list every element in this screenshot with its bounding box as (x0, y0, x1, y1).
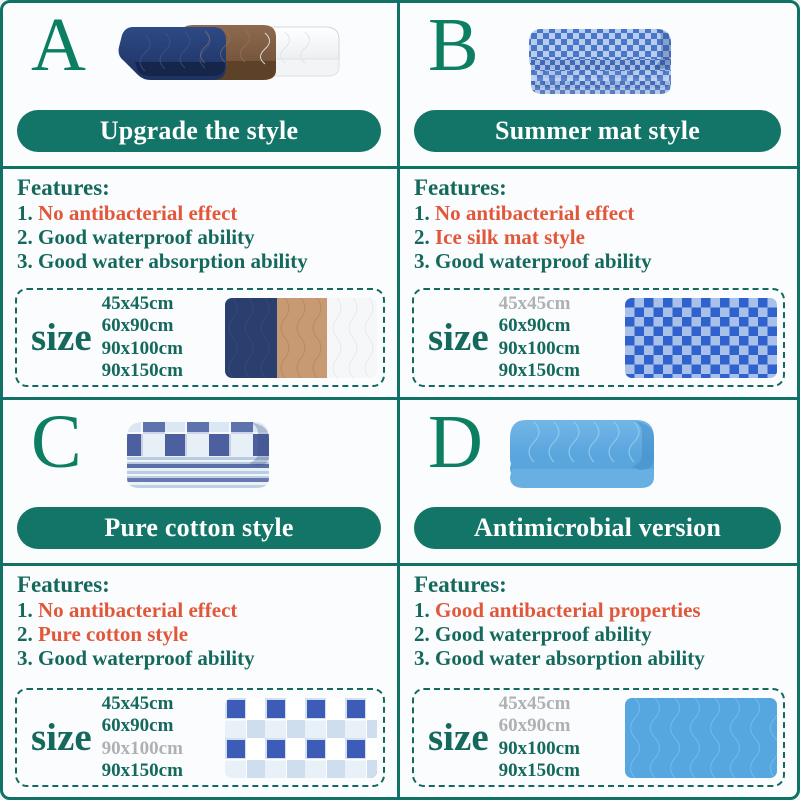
panel-d-features-label: Features: (414, 573, 785, 598)
panel-c-size-list: 45x45cm 60x90cm 90x100cm 90x150cm (96, 693, 191, 782)
feature-text: Good waterproof ability (38, 646, 255, 670)
feature-number: 2. (414, 622, 430, 646)
panel-b-title: Summer mat style (495, 116, 700, 146)
panel-a-header: A (3, 3, 397, 169)
variant-grid: A (3, 3, 797, 797)
size-option[interactable]: 60x90cm (102, 315, 183, 337)
feature-number: 3. (414, 646, 430, 670)
panel-c-feature-1: 1. No antibacterial effect (17, 598, 385, 622)
size-option[interactable]: 90x100cm (499, 738, 580, 760)
panel-c-body: Features: 1. No antibacterial effect 2. … (3, 566, 397, 797)
size-option[interactable]: 90x150cm (102, 360, 183, 382)
size-option[interactable]: 90x150cm (499, 760, 580, 782)
size-option-unavailable: 45x45cm (499, 293, 580, 315)
panel-d-size-label: size (414, 718, 493, 757)
panel-c-size-box: size 45x45cm 60x90cm 90x100cm 90x150cm (15, 688, 385, 787)
size-option-unavailable: 45x45cm (499, 693, 580, 715)
panel-d-feature-2: 2. Good waterproof ability (414, 622, 785, 646)
feature-number: 1. (17, 598, 33, 622)
size-option[interactable]: 90x100cm (102, 338, 183, 360)
size-option[interactable]: 90x150cm (102, 760, 183, 782)
panel-a-letter: A (31, 7, 85, 83)
panel-d-body: Features: 1. Good antibacterial properti… (400, 566, 797, 797)
feature-number: 2. (17, 225, 33, 249)
feature-number: 1. (414, 598, 430, 622)
panel-a-fabric-swatch (225, 298, 377, 378)
panel-d-letter: D (428, 404, 482, 480)
panel-c-fabric-swatch (225, 698, 377, 778)
feature-text: Ice silk mat style (435, 225, 585, 249)
variant-panel-a[interactable]: A (3, 3, 400, 400)
panel-b-size-label: size (414, 318, 493, 357)
panel-c-letter: C (31, 404, 81, 480)
panel-b-feature-1: 1. No antibacterial effect (414, 201, 785, 225)
feature-number: 1. (17, 201, 33, 225)
feature-number: 3. (414, 249, 430, 273)
feature-text: No antibacterial effect (38, 201, 237, 225)
feature-text: No antibacterial effect (38, 598, 237, 622)
variant-panel-c[interactable]: C (3, 400, 400, 797)
feature-number: 3. (17, 249, 33, 273)
size-option[interactable]: 45x45cm (102, 293, 183, 315)
panel-a-size-label: size (17, 318, 96, 357)
panel-d-fabric-swatch (625, 698, 777, 778)
panel-b-body: Features: 1. No antibacterial effect 2. … (400, 169, 797, 397)
panel-b-features-label: Features: (414, 176, 785, 201)
folded-blue-gingham-mat-photo (525, 15, 685, 107)
feature-text: Good water absorption ability (38, 249, 308, 273)
folded-blue-plaid-cotton-pad-photo (121, 412, 286, 504)
feature-text: Good waterproof ability (435, 249, 652, 273)
panel-c-header: C (3, 400, 397, 566)
feature-text: Good antibacterial properties (435, 598, 701, 622)
size-option[interactable]: 90x150cm (499, 360, 580, 382)
panel-c-feature-2: 2. Pure cotton style (17, 622, 385, 646)
panel-a-feature-1: 1. No antibacterial effect (17, 201, 385, 225)
panel-a-body: Features: 1. No antibacterial effect 2. … (3, 169, 397, 397)
panel-d-size-list: 45x45cm 60x90cm 90x100cm 90x150cm (493, 693, 588, 782)
panel-d-title-pill[interactable]: Antimicrobial version (414, 507, 781, 549)
panel-d-size-box: size 45x45cm 60x90cm 90x100cm 90x150cm (412, 688, 785, 787)
panel-b-fabric-swatch (625, 298, 777, 378)
feature-text: Good waterproof ability (435, 622, 652, 646)
panel-c-feature-3: 3. Good waterproof ability (17, 646, 385, 670)
panel-c-features-label: Features: (17, 573, 385, 598)
product-variant-infographic: A (0, 0, 800, 800)
panel-a-feature-2: 2. Good waterproof ability (17, 225, 385, 249)
panel-a-title-pill[interactable]: Upgrade the style (17, 110, 381, 152)
panel-c-title-pill[interactable]: Pure cotton style (17, 507, 381, 549)
panel-b-title-pill[interactable]: Summer mat style (414, 110, 781, 152)
panel-b-size-box: size 45x45cm 60x90cm 90x100cm 90x150cm (412, 288, 785, 387)
feature-text: Good water absorption ability (435, 646, 705, 670)
size-option[interactable]: 45x45cm (102, 693, 183, 715)
feature-text: Pure cotton style (38, 622, 188, 646)
feature-text: Good waterproof ability (38, 225, 255, 249)
feature-text: No antibacterial effect (435, 201, 634, 225)
panel-a-title: Upgrade the style (100, 116, 298, 146)
folded-light-blue-quilted-pad-photo (508, 412, 668, 504)
size-option-unavailable: 60x90cm (499, 715, 580, 737)
panel-d-header: D (400, 400, 797, 566)
folded-quilted-pads-navy-brown-white-photo (113, 15, 348, 107)
feature-number: 3. (17, 646, 33, 670)
panel-a-size-list: 45x45cm 60x90cm 90x100cm 90x150cm (96, 293, 191, 382)
panel-b-feature-2: 2. Ice silk mat style (414, 225, 785, 249)
panel-d-feature-1: 1. Good antibacterial properties (414, 598, 785, 622)
size-option[interactable]: 60x90cm (102, 715, 183, 737)
size-option[interactable]: 60x90cm (499, 315, 580, 337)
feature-number: 2. (414, 225, 430, 249)
panel-c-title: Pure cotton style (104, 513, 293, 543)
panel-b-header: B (400, 3, 797, 169)
panel-a-size-box: size 45x45cm 60x90cm 90x100cm 90x150cm (15, 288, 385, 387)
feature-number: 2. (17, 622, 33, 646)
variant-panel-d[interactable]: D (400, 400, 797, 797)
panel-d-feature-3: 3. Good water absorption ability (414, 646, 785, 670)
panel-b-letter: B (428, 7, 478, 83)
feature-number: 1. (414, 201, 430, 225)
panel-a-feature-3: 3. Good water absorption ability (17, 249, 385, 273)
panel-b-feature-3: 3. Good waterproof ability (414, 249, 785, 273)
panel-b-size-list: 45x45cm 60x90cm 90x100cm 90x150cm (493, 293, 588, 382)
panel-c-size-label: size (17, 718, 96, 757)
panel-a-features-label: Features: (17, 176, 385, 201)
panel-d-title: Antimicrobial version (474, 513, 721, 543)
size-option[interactable]: 90x100cm (499, 338, 580, 360)
size-option-unavailable: 90x100cm (102, 738, 183, 760)
variant-panel-b[interactable]: B (400, 3, 797, 400)
